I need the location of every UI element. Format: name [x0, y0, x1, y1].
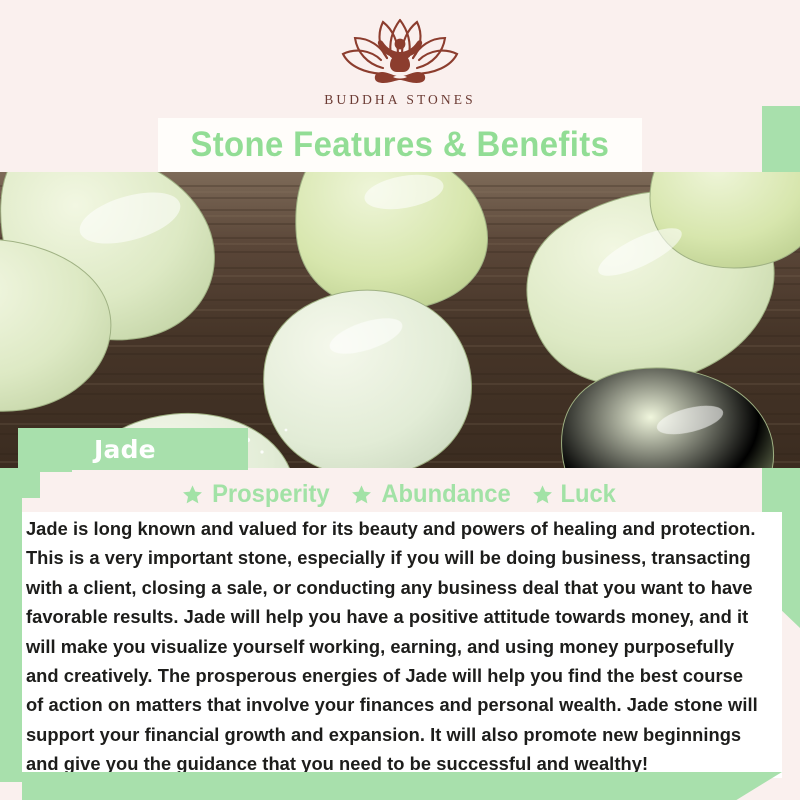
stone-photo-illustration: [0, 172, 800, 468]
description-text: Jade is long known and valued for its be…: [22, 512, 771, 779]
benefit-item: Luck: [532, 480, 617, 509]
brand-header: BUDDHA STONES: [0, 0, 800, 120]
star-icon: [351, 484, 372, 505]
benefit-label: Prosperity: [213, 480, 330, 509]
lotus-meditation-icon: [325, 14, 475, 88]
stone-photo: [0, 172, 800, 468]
benefits-row: Prosperity Abundance Luck: [0, 478, 800, 510]
benefit-item: Abundance: [351, 480, 514, 509]
benefit-label: Abundance: [381, 480, 510, 509]
benefit-label: Luck: [561, 480, 616, 509]
infographic-card: BUDDHA STONES: [0, 0, 800, 800]
page-title: Stone Features & Benefits: [191, 125, 610, 165]
section-title-band: Stone Features & Benefits: [158, 118, 642, 172]
star-icon: [532, 484, 553, 505]
decorative-accent-text-left: [0, 470, 22, 782]
benefit-item: Prosperity: [182, 480, 333, 509]
star-icon: [182, 484, 203, 505]
brand-logo: BUDDHA STONES: [0, 14, 800, 108]
description-panel: Jade is long known and valued for its be…: [22, 512, 782, 778]
brand-name: BUDDHA STONES: [0, 92, 800, 108]
stone-name-label: Jade: [94, 435, 156, 464]
stone-name-badge: Jade: [18, 428, 248, 470]
decorative-accent-bottom: [22, 772, 782, 800]
